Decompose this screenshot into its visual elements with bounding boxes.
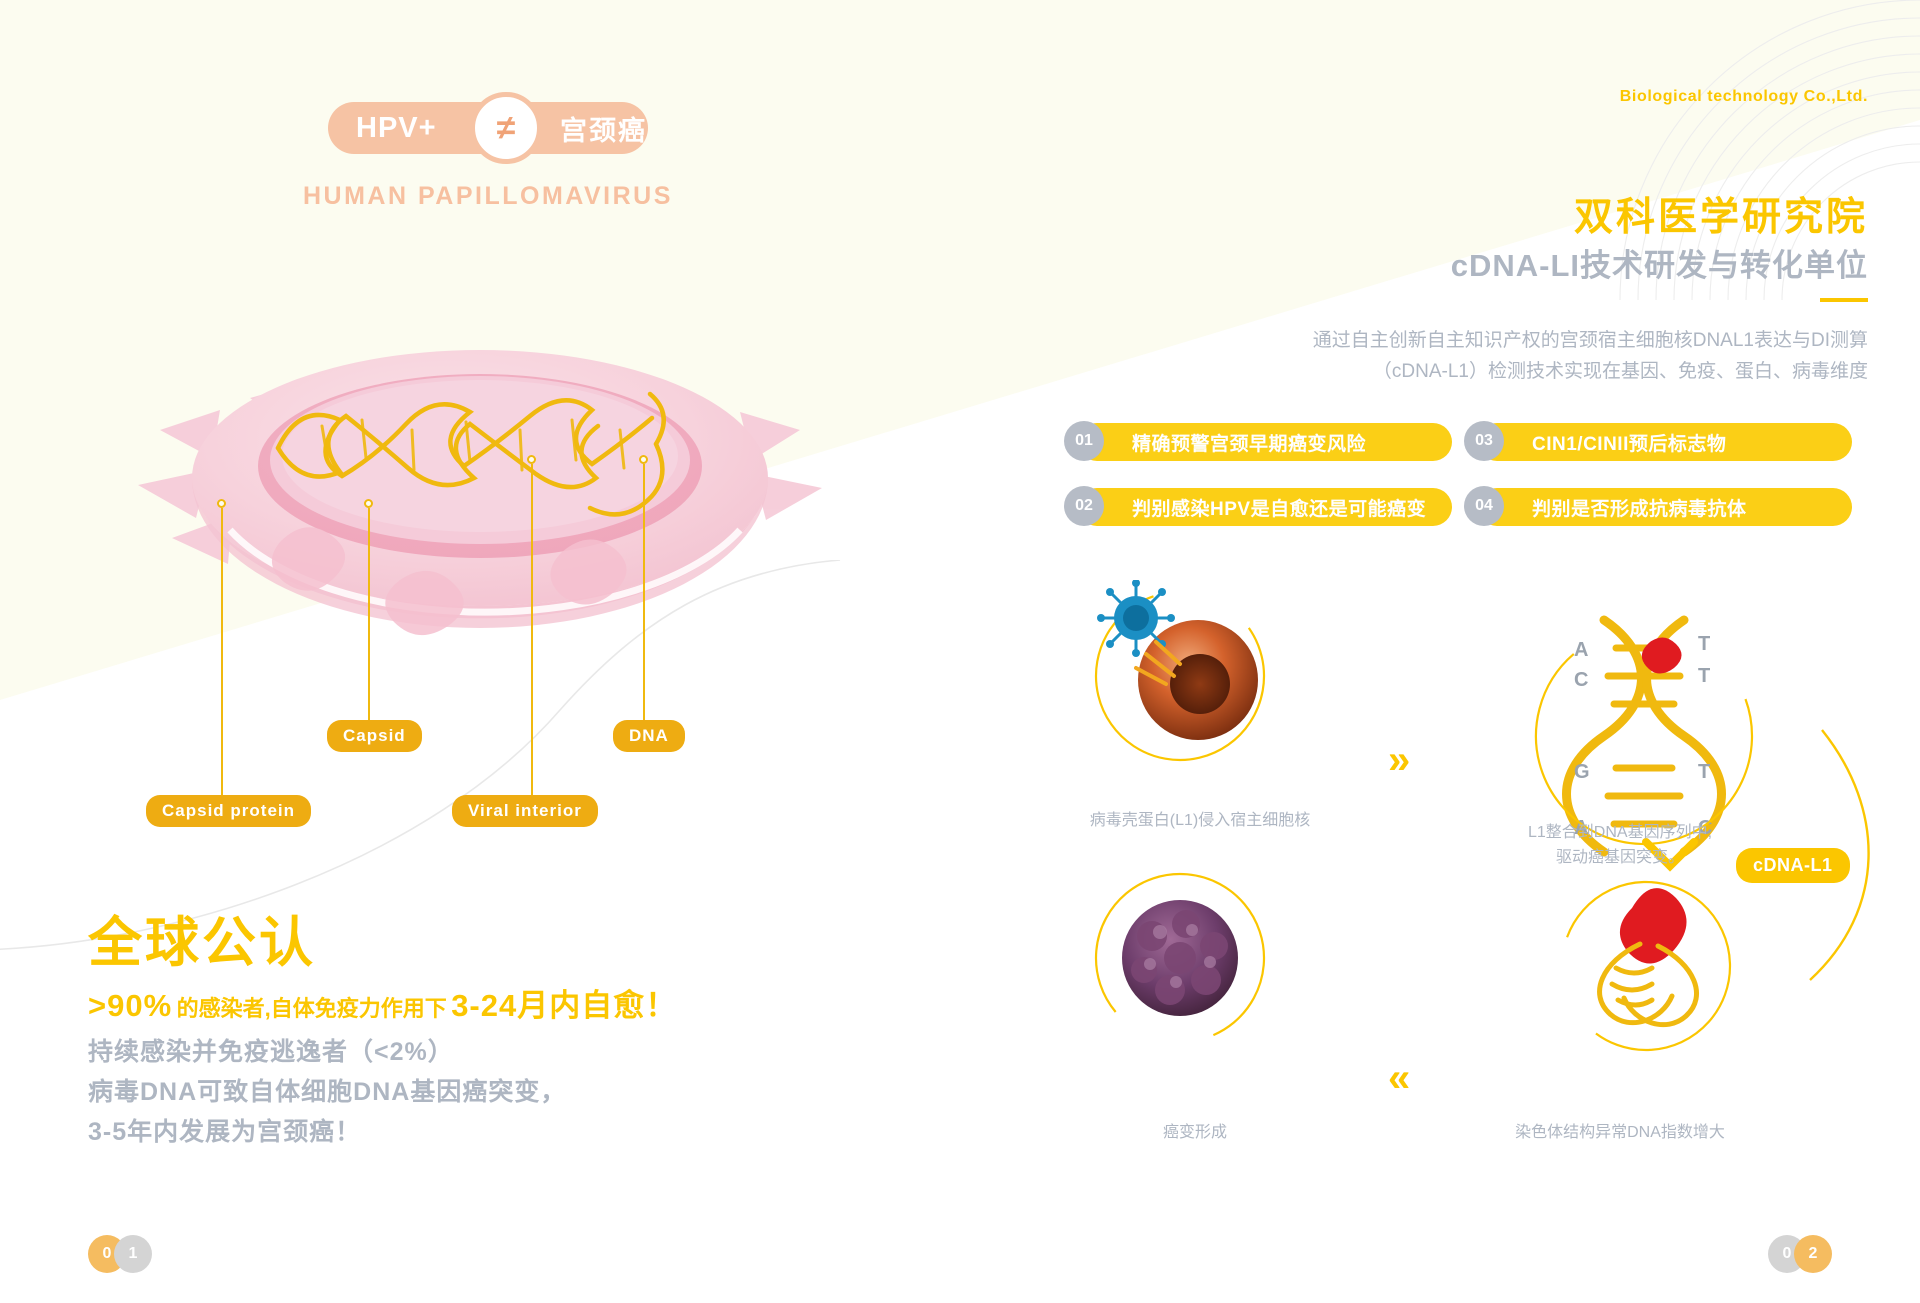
feature-label-04: 判别是否形成抗病毒抗体 [1532,494,1747,521]
dna-base-left-2: G [1574,761,1590,783]
process-caption-step3: 染色体结构异常DNA指数增大 [1470,1120,1770,1145]
feature-number-04: 04 [1464,486,1504,526]
process-caption-step2: L1整合到DNA基因序列中, 驱动癌基因突变。 [1470,820,1770,870]
cervical-cancer-label: 宫颈癌 [560,109,647,148]
callout-label-viral-interior: Viral interior [452,795,598,827]
callout-line-viral-interior [531,464,533,798]
page-number-left-second: 1 [114,1235,152,1273]
dna-base-right-0: T [1698,633,1710,655]
callout-label-capsid-protein: Capsid protein [146,795,311,827]
feature-body-02: 判别感染HPV是自愈还是可能癌变 [1078,488,1452,526]
institute-paragraph: 通过自主创新自主知识产权的宫颈宿主细胞核DNAL1表达与DI测算 （cDNA-L… [1268,325,1868,387]
callout-label-dna: DNA [613,720,685,752]
dna-base-left-1: C [1574,669,1588,691]
not-equal-icon: ≠ [470,92,542,164]
risk-paragraph: 持续感染并免疫逃逸者（<2%） 病毒DNA可致自体细胞DNA基因癌突变， 3-5… [88,1032,566,1152]
callout-line-dna [643,464,645,723]
feature-body-03: CIN1/CINII预后标志物 [1478,423,1852,461]
stat-description: 的感染者,自体免疫力作用下 [177,996,447,1021]
feature-body-01: 精确预警宫颈早期癌变风险 [1078,423,1452,461]
risk-paragraph-line-3: 3-5年内发展为宫颈癌！ [88,1112,566,1152]
feature-number-01: 01 [1064,421,1104,461]
page-number-right-second: 2 [1794,1235,1832,1273]
callout-line-capsid [368,508,370,723]
title-divider [1820,298,1868,302]
institute-paragraph-line-1: 通过自主创新自主知识产权的宫颈宿主细胞核DNAL1表达与DI测算 [1268,325,1868,356]
feature-label-03: CIN1/CINII预后标志物 [1532,429,1726,456]
hpv-badge: HPV+ ≠ 宫颈癌 [328,102,648,154]
feature-number-03: 03 [1464,421,1504,461]
risk-paragraph-line-1: 持续感染并免疫逃逸者（<2%） [88,1032,566,1072]
stat-over-90: >90% [88,988,172,1023]
callout-dot-capsid-protein [217,499,226,508]
page-number-left: 0 1 [88,1235,152,1273]
feature-label-01: 精确预警宫颈早期癌变风险 [1132,429,1366,456]
dna-base-right-2: T [1698,761,1710,783]
cdna-l1-badge: cDNA-L1 [1736,848,1850,883]
callout-dot-dna [639,455,648,464]
callout-label-capsid: Capsid [327,720,422,752]
feature-body-04: 判别是否形成抗病毒抗体 [1478,488,1852,526]
process-caption-step4: 癌变形成 [1080,1120,1310,1145]
process-caption-step2-line1: L1整合到DNA基因序列中, [1470,820,1770,845]
callout-dot-capsid [364,499,373,508]
feature-item-04[interactable]: 判别是否形成抗病毒抗体 04 [1464,488,1852,526]
callout-dot-viral-interior [527,455,536,464]
institute-title: 双科医学研究院 [1574,186,1868,242]
dna-base-left-0: A [1574,639,1588,661]
institute-subtitle: cDNA-LI技术研发与转化单位 [1451,240,1868,285]
feature-number-02: 02 [1064,486,1104,526]
arrow-left-icon: « [1388,1056,1410,1101]
dna-base-right-1: T [1698,665,1710,687]
institute-paragraph-line-2: （cDNA-L1）检测技术实现在基因、免疫、蛋白、病毒维度 [1268,356,1868,387]
company-name: Biological technology Co.,Ltd. [1620,88,1868,106]
page-number-right: 0 2 [1768,1235,1832,1273]
risk-paragraph-line-2: 病毒DNA可致自体细胞DNA基因癌突变， [88,1072,566,1112]
process-caption-step1: 病毒壳蛋白(L1)侵入宿主细胞核 [1040,808,1360,833]
process-caption-step2-line2: 驱动癌基因突变。 [1470,845,1770,870]
feature-label-02: 判别感染HPV是自愈还是可能癌变 [1132,494,1426,521]
arrow-right-icon: » [1388,738,1410,783]
feature-item-01[interactable]: 精确预警宫颈早期癌变风险 01 [1064,423,1452,461]
global-highlight-line: >90% 的感染者,自体免疫力作用下 3-24月内自愈！ [88,980,677,1025]
callout-line-capsid-protein [221,508,223,798]
feature-item-03[interactable]: CIN1/CINII预后标志物 03 [1464,423,1852,461]
feature-item-02[interactable]: 判别感染HPV是自愈还是可能癌变 02 [1064,488,1452,526]
virus-illustration [100,280,890,700]
hpv-label: HPV+ [356,112,464,145]
stat-timeframe: 3-24月内自愈！ [451,988,677,1023]
global-headline: 全球公认 [88,898,316,977]
hpv-subtitle: HUMAN PAPILLOMAVIRUS [303,182,673,211]
